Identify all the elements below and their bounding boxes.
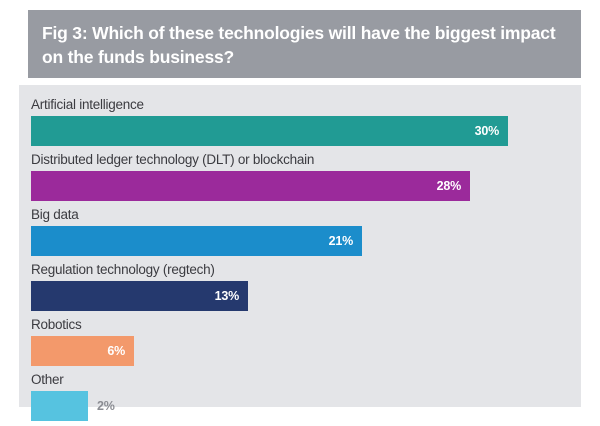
bar-fill: 30% xyxy=(31,116,508,146)
bar-value-label: 28% xyxy=(437,179,470,193)
bar-chart: Artificial intelligence 30% Distributed … xyxy=(31,96,571,426)
bar-group: Other 2% xyxy=(31,371,571,426)
bar-value-label: 21% xyxy=(329,234,362,248)
figure-container: Fig 3: Which of these technologies will … xyxy=(0,0,600,407)
bar-category-label: Artificial intelligence xyxy=(31,96,571,116)
page-left-margin xyxy=(0,0,19,407)
page-right-margin xyxy=(581,0,600,407)
bar-category-label: Distributed ledger technology (DLT) or b… xyxy=(31,151,571,171)
bar-value-label: 30% xyxy=(475,124,508,138)
bar-category-label: Robotics xyxy=(31,316,571,336)
bar-value-label: 6% xyxy=(107,344,134,358)
bar-group: Distributed ledger technology (DLT) or b… xyxy=(31,151,571,206)
bar-track: 30% xyxy=(31,116,571,146)
bar-fill: 13% xyxy=(31,281,248,311)
bar-value-label: 2% xyxy=(97,399,115,413)
bar-category-label: Big data xyxy=(31,206,571,226)
bar-category-label: Other xyxy=(31,371,571,391)
figure-title: Fig 3: Which of these technologies will … xyxy=(42,22,563,69)
bar-group: Artificial intelligence 30% xyxy=(31,96,571,151)
bar-fill: 2% xyxy=(31,391,88,421)
bar-group: Robotics 6% xyxy=(31,316,571,371)
page-top-margin xyxy=(0,0,600,10)
bar-track: 13% xyxy=(31,281,571,311)
header-divider xyxy=(0,78,600,85)
bar-fill: 28% xyxy=(31,171,470,201)
bar-fill: 6% xyxy=(31,336,134,366)
figure-header-band: Fig 3: Which of these technologies will … xyxy=(28,10,581,78)
bar-track: 21% xyxy=(31,226,571,256)
bar-track: 28% xyxy=(31,171,571,201)
bar-track: 2% xyxy=(31,391,571,421)
bar-track: 6% xyxy=(31,336,571,366)
bar-group: Big data 21% xyxy=(31,206,571,261)
bar-group: Regulation technology (regtech) 13% xyxy=(31,261,571,316)
bar-value-label: 13% xyxy=(215,289,248,303)
bar-category-label: Regulation technology (regtech) xyxy=(31,261,571,281)
bar-fill: 21% xyxy=(31,226,362,256)
